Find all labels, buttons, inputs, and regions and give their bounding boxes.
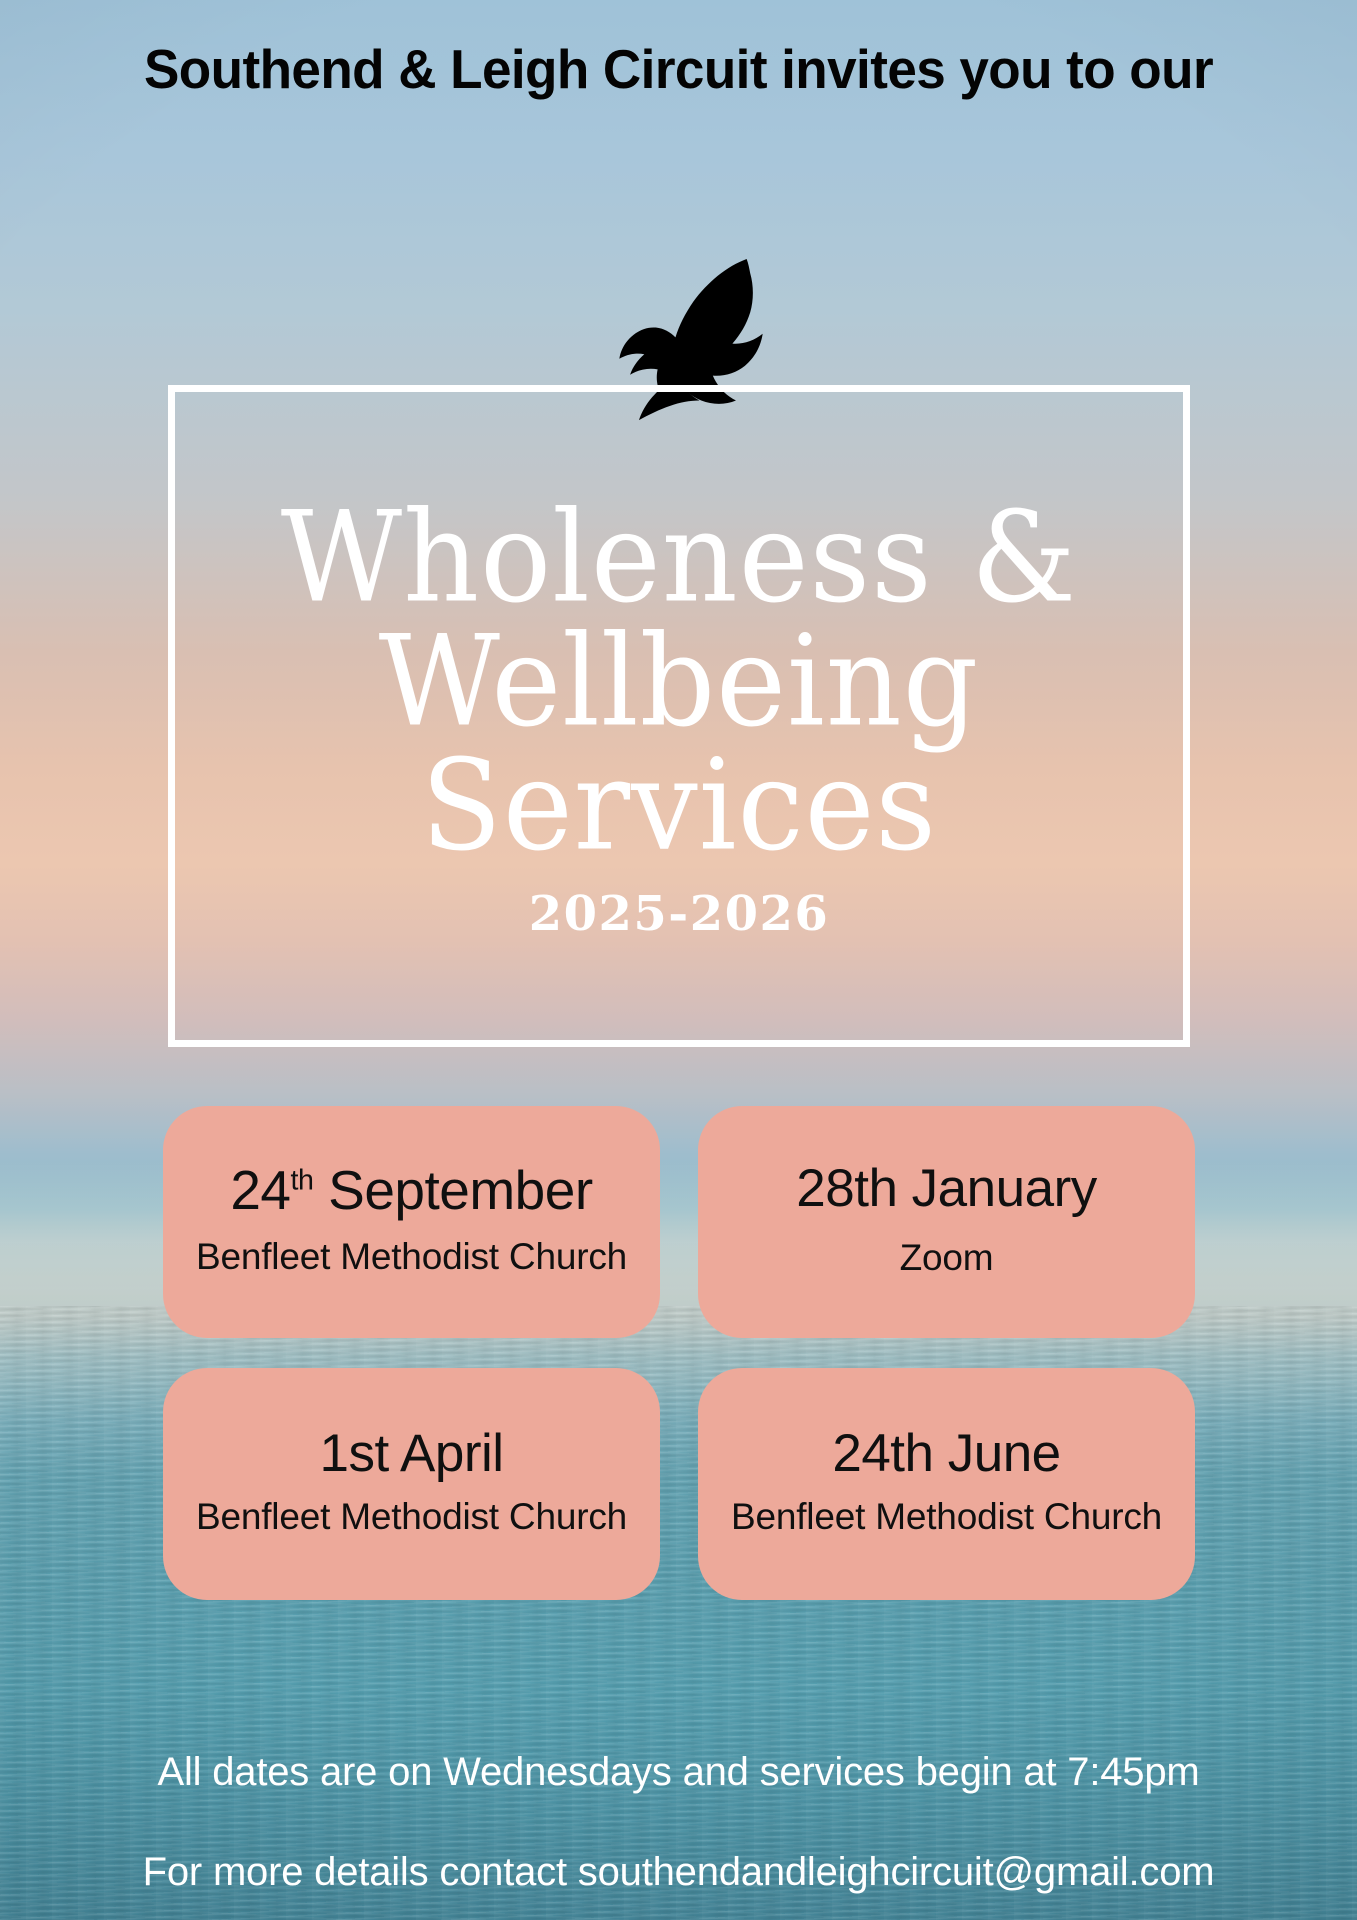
title-line-3: Services bbox=[281, 743, 1077, 867]
schedule-note: All dates are on Wednesdays and services… bbox=[20, 1748, 1337, 1796]
service-venue: Benfleet Methodist Church bbox=[196, 1236, 627, 1278]
contact-note: For more details contact southendandleig… bbox=[20, 1848, 1337, 1896]
poster-content: Southend & Leigh Circuit invites you to … bbox=[0, 0, 1357, 1920]
service-date-rest: 1st April bbox=[319, 1424, 503, 1483]
service-venue: Benfleet Methodist Church bbox=[196, 1496, 627, 1538]
service-card: 24th June Benfleet Methodist Church bbox=[698, 1368, 1195, 1600]
service-date-rest: 24th June bbox=[832, 1424, 1060, 1483]
service-date: 28th January bbox=[796, 1161, 1096, 1217]
title-frame-inner: Wholeness & Wellbeing Services 2025-2026 bbox=[175, 392, 1183, 1040]
page-title: Wholeness & Wellbeing Services bbox=[281, 495, 1077, 866]
service-date: 1st April bbox=[319, 1426, 503, 1482]
poster-canvas: Southend & Leigh Circuit invites you to … bbox=[0, 0, 1357, 1920]
service-card: 1st April Benfleet Methodist Church bbox=[163, 1368, 660, 1600]
service-date-ordinal: th bbox=[291, 1165, 314, 1197]
year-range: 2025-2026 bbox=[529, 886, 830, 942]
service-date: 24th June bbox=[832, 1426, 1060, 1482]
service-date-rest: 28th January bbox=[796, 1159, 1096, 1218]
service-venue: Zoom bbox=[900, 1237, 994, 1279]
service-venue: Benfleet Methodist Church bbox=[731, 1496, 1162, 1538]
title-line-2: Wellbeing bbox=[281, 619, 1077, 743]
service-dates-grid: 24th September Benfleet Methodist Church… bbox=[163, 1106, 1195, 1600]
invitation-header: Southend & Leigh Circuit invites you to … bbox=[24, 36, 1334, 103]
service-date-rest: September bbox=[313, 1159, 592, 1221]
service-card: 28th January Zoom bbox=[698, 1106, 1195, 1338]
service-date-number: 24 bbox=[230, 1159, 290, 1221]
title-frame: Wholeness & Wellbeing Services 2025-2026 bbox=[168, 385, 1190, 1047]
service-date: 24th September bbox=[230, 1162, 592, 1220]
footer-notes: All dates are on Wednesdays and services… bbox=[0, 1748, 1357, 1896]
service-card: 24th September Benfleet Methodist Church bbox=[163, 1106, 660, 1338]
title-line-1: Wholeness & bbox=[281, 495, 1077, 619]
